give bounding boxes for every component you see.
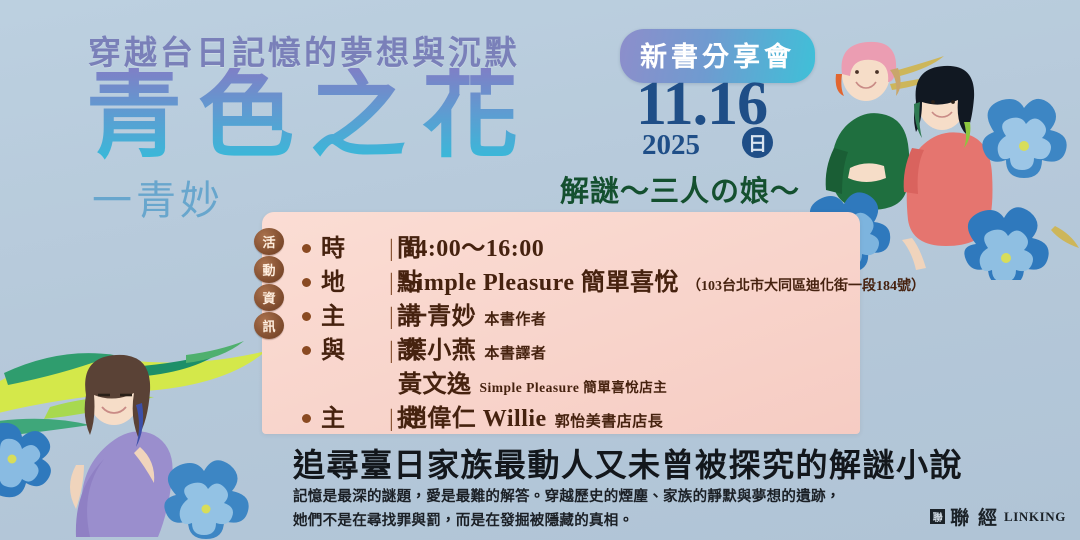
japanese-subtitle: 解謎〜三人の娘〜 — [560, 168, 800, 210]
publisher-logo: 聯 聯 經 LINKING — [930, 503, 1066, 530]
wheat-sprig-icon — [890, 56, 1079, 248]
bullet-icon — [302, 414, 311, 423]
info-row-value: Simple Pleasure 簡單喜悅 — [403, 262, 679, 297]
info-row-value: 14:00〜16:00 — [403, 228, 544, 263]
book-blurb-line-1: 記憶是最深的謎題，愛是最難的解答。穿越歷史的煙塵、家族的靜默與夢想的遺跡， — [293, 486, 841, 510]
info-row-panelist-secondary: 黃文逸 Simple Pleasure 簡單喜悅店主 — [302, 364, 862, 398]
info-row-panelist: 與 談 | 葉小燕 本書譯者 — [302, 330, 862, 364]
blue-flower-left-edge — [0, 423, 51, 497]
info-row-time: 時 間 | 14:00〜16:00 — [302, 228, 862, 262]
info-row-note: 郭怡美書店店長 — [555, 410, 664, 431]
publisher-name-en: LINKING — [1004, 509, 1066, 525]
bullet-icon — [302, 278, 311, 287]
info-row-host: 主 持 | 趙偉仁 Willie 郭怡美書店店長 — [302, 398, 862, 432]
event-date-subrow: 2025 日 — [636, 129, 767, 163]
event-weekday-badge: 日 — [742, 127, 773, 158]
info-row-venue: 地 點 | Simple Pleasure 簡單喜悅 （103台北市大同區迪化街… — [302, 262, 862, 296]
info-row-separator: | — [389, 338, 394, 365]
info-row-value: 葉小燕 — [403, 330, 477, 365]
publisher-mark-icon: 聯 — [930, 509, 945, 524]
info-row-value: 趙偉仁 Willie — [403, 398, 547, 433]
poster-author-name: 一青妙 — [92, 168, 224, 226]
blue-flower-cluster-right — [982, 99, 1066, 178]
woman-coral-dress — [902, 66, 993, 270]
info-tag-vertical: 活 動 資 訊 — [254, 228, 284, 339]
foliage-sweep — [0, 341, 266, 437]
info-tag-char-2: 資 — [254, 284, 284, 311]
info-row-note: 本書作者 — [484, 308, 546, 329]
info-row-separator: | — [389, 406, 394, 433]
info-row-value: 一青妙 — [403, 296, 477, 331]
info-tag-char-3: 訊 — [254, 312, 284, 339]
info-row-address: （103台北市大同區迪化街一段184號） — [687, 275, 925, 295]
info-row-separator: | — [389, 270, 394, 297]
info-row-label: 主 講 — [321, 296, 389, 331]
info-tag-char-1: 動 — [254, 256, 284, 283]
info-row-label: 主 持 — [321, 398, 389, 433]
bullet-icon — [302, 346, 311, 355]
woman-green-dress — [826, 42, 910, 210]
event-date-year: 2025 — [642, 129, 700, 162]
book-blurb-line-2: 她們不是在尋找罪與罰，而是在發掘被隱藏的真相。 — [293, 510, 841, 534]
book-blurb: 記憶是最深的謎題，愛是最難的解答。穿越歷史的煙塵、家族的靜默與夢想的遺跡， 她們… — [293, 486, 841, 534]
bullet-icon — [302, 244, 311, 253]
info-row-note: Simple Pleasure 簡單喜悅店主 — [480, 376, 668, 396]
event-poster: 穿越台日記憶的夢想與沉默 青色之花 一青妙 新書分享會 11.16 2025 日… — [0, 0, 1080, 540]
info-row-separator: | — [389, 236, 394, 263]
info-row-label: 時 間 — [321, 228, 389, 263]
book-tagline: 追尋臺日家族最動人又未曾被探究的解謎小說 — [293, 440, 963, 486]
poster-main-title: 青色之花 — [86, 68, 534, 164]
info-row-separator: | — [389, 304, 394, 331]
info-row-value: 黃文逸 — [398, 364, 472, 399]
event-info-rows: 時 間 | 14:00〜16:00 地 點 | Simple Pleasure … — [302, 228, 862, 432]
publisher-name-cn: 聯 經 — [950, 503, 999, 530]
info-row-speaker: 主 講 | 一青妙 本書作者 — [302, 296, 862, 330]
info-row-note: 本書譯者 — [484, 342, 546, 363]
event-date-block: 11.16 2025 日 — [636, 76, 767, 163]
bullet-icon — [302, 312, 311, 321]
info-row-label: 地 點 — [321, 262, 389, 297]
event-date-day: 11.16 — [636, 76, 767, 133]
blue-flower-cluster-bottom — [964, 207, 1048, 280]
woman-purple-dress — [70, 355, 173, 537]
blue-flower-mid — [164, 460, 248, 539]
info-row-label: 與 談 — [321, 330, 389, 365]
info-tag-char-0: 活 — [254, 228, 284, 255]
